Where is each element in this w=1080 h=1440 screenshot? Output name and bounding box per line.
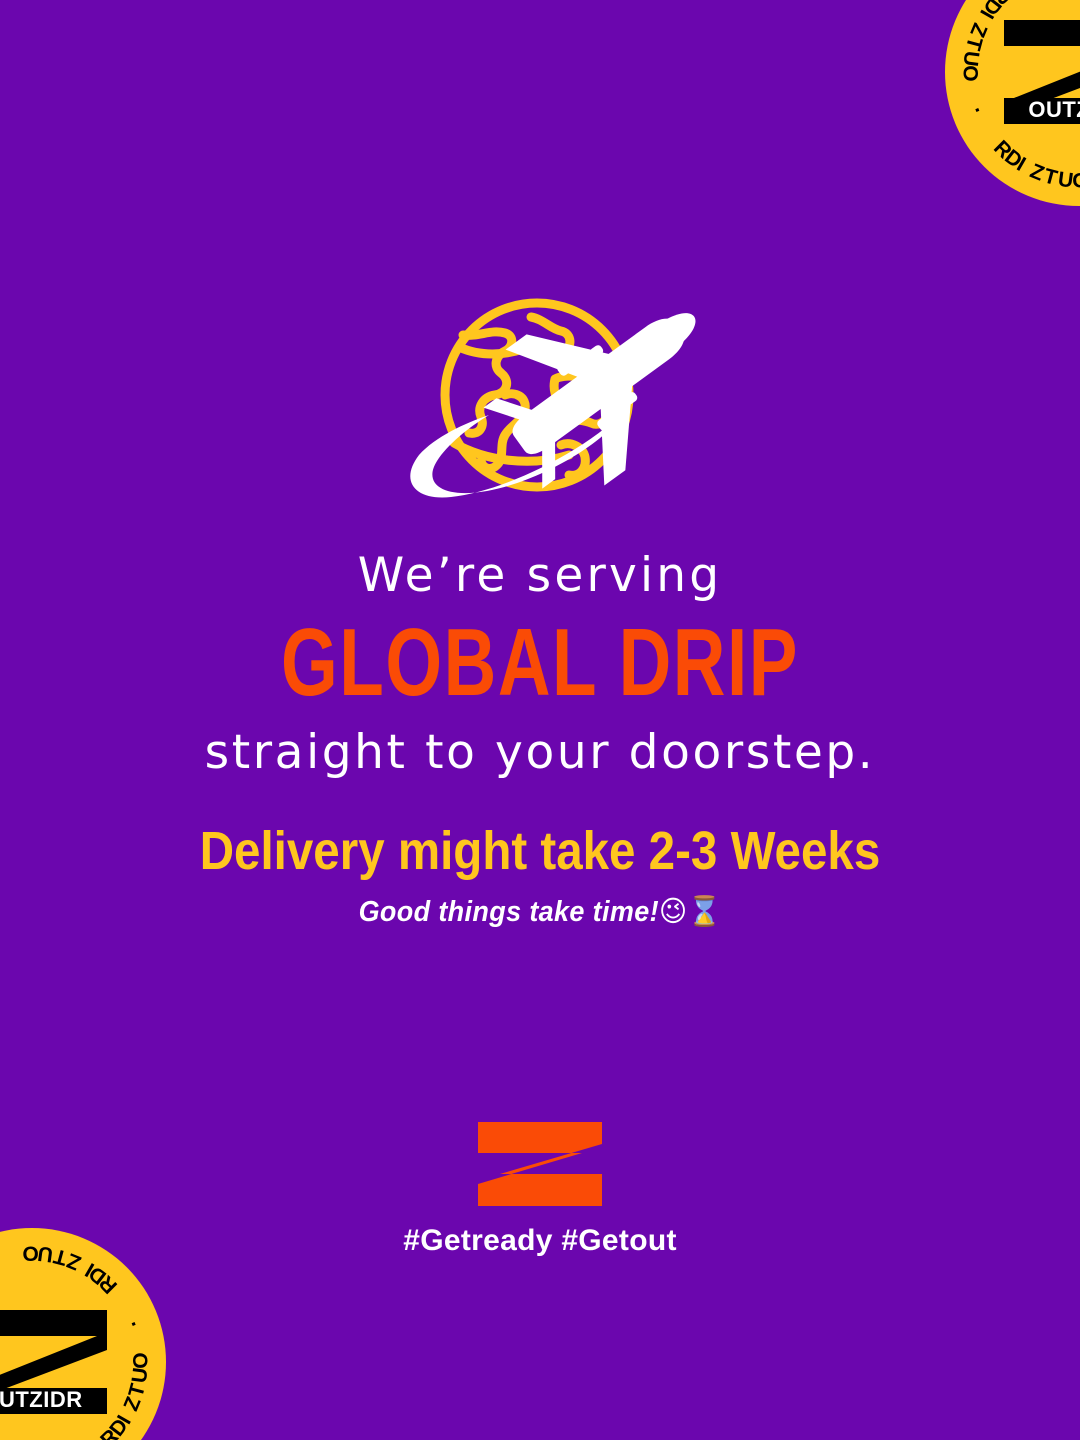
- headline-line-global-drip: GLOBAL DRIP: [130, 615, 951, 711]
- delivery-subtext-row: Good things take time!😉⌛: [38, 894, 1042, 929]
- sticker-center-mark: OUTZIDR: [1004, 20, 1080, 124]
- outzidr-sticker-top-right: OUTZIDR·OUTZIDR·OUTZIDR·OUTZIDR· OUTZIDR: [945, 0, 1080, 206]
- headline-line-serving: We’re serving: [0, 548, 1080, 603]
- sticker-center-word: OUTZIDR: [1028, 97, 1080, 123]
- sticker-ring-char: U: [1056, 168, 1074, 194]
- sticker-ring-char: ·: [122, 1315, 147, 1331]
- z-diagonal: [0, 1332, 107, 1392]
- outzidr-sticker-bottom-left: OUTZIDR·OUTZIDR·OUTZIDR·OUTZIDR· OUTZIDR: [0, 1228, 166, 1440]
- wink-face-icon: 😉: [659, 894, 687, 928]
- z-top-bar: [0, 1310, 107, 1336]
- sticker-center-word: OUTZIDR: [0, 1387, 83, 1413]
- sticker-ring-char: ·: [0, 1247, 1, 1272]
- delivery-note-block: Delivery might take 2-3 Weeks Good thing…: [0, 822, 1080, 929]
- z-logo-icon: OUTZIDR: [0, 1310, 107, 1414]
- poster-canvas: OUTZIDR·OUTZIDR·OUTZIDR·OUTZIDR· OUTZIDR: [0, 0, 1080, 1440]
- sticker-ring-char: O: [958, 65, 982, 81]
- hourglass-icon: ⌛: [687, 894, 721, 928]
- z-top-bar: [1004, 20, 1080, 46]
- z-diagonal: [1004, 42, 1080, 102]
- globe-airplane-illustration: [355, 275, 715, 515]
- z-glyph: [478, 1122, 602, 1206]
- delivery-subtext: Good things take time!: [359, 896, 659, 928]
- sticker-ring-char: ·: [964, 103, 989, 119]
- delivery-headline: Delivery might take 2-3 Weeks: [65, 822, 1015, 880]
- brand-z-logo-icon: [478, 1122, 602, 1206]
- headline-line-doorstep: straight to your doorstep.: [0, 725, 1080, 780]
- sticker-ring-char: U: [957, 49, 983, 67]
- sticker-center-mark: OUTZIDR: [0, 1310, 107, 1414]
- z-logo-icon: OUTZIDR: [1004, 20, 1080, 124]
- headline-block: We’re serving GLOBAL DRIP straight to yo…: [0, 548, 1080, 781]
